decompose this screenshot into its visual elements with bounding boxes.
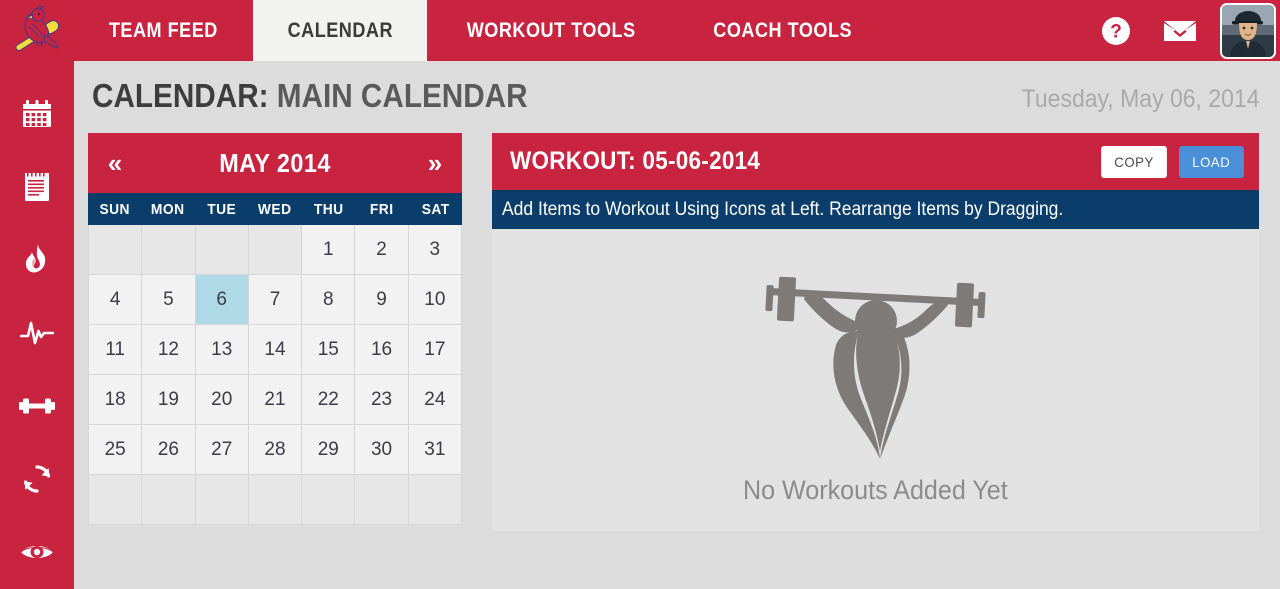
calendar-day-cell[interactable]: 15	[302, 325, 355, 375]
tab-wrap-workout-tools: WORKOUT TOOLS	[427, 0, 675, 61]
calendar-day-cell[interactable]: 8	[302, 275, 355, 325]
calendar-day-cell[interactable]: 26	[142, 425, 195, 475]
calendar-empty-cell	[249, 475, 302, 525]
eye-icon	[20, 542, 54, 562]
empty-state-message: No Workouts Added Yet	[743, 475, 1008, 506]
calendar-day-cell[interactable]: 1	[302, 225, 355, 275]
calendar-icon	[22, 100, 52, 128]
dumbbell-icon	[19, 396, 55, 416]
calendar-day-cell[interactable]: 30	[355, 425, 408, 475]
calendar-empty-cell	[196, 475, 249, 525]
calendar-day-cell[interactable]: 31	[409, 425, 462, 475]
calendar-empty-cell	[249, 225, 302, 275]
calendar-day-cell[interactable]: 20	[196, 375, 249, 425]
main-tabs: TEAM FEED CALENDAR WORKOUT TOOLS COACH T…	[74, 0, 889, 61]
calendar-empty-cell	[302, 475, 355, 525]
calendar-day-cell[interactable]: 25	[89, 425, 142, 475]
calendar-day-cell[interactable]: 28	[249, 425, 302, 475]
calendar-day-cell[interactable]: 21	[249, 375, 302, 425]
weightlifter-barbell-icon	[760, 261, 992, 473]
calendar-day-cell[interactable]: 29	[302, 425, 355, 475]
calendar-day-cell[interactable]: 12	[142, 325, 195, 375]
calendar-panel: « MAY 2014 » SUN MON TUE WED THU FRI SAT…	[88, 133, 462, 531]
calendar-day-cell[interactable]: 22	[302, 375, 355, 425]
calendar-empty-cell	[409, 475, 462, 525]
sidebar-item-performance[interactable]	[0, 296, 74, 369]
user-avatar-photo	[1222, 5, 1274, 57]
team-logo[interactable]	[0, 0, 74, 61]
calendar-month-title: MAY 2014	[219, 148, 331, 179]
main-content: CALENDAR: MAIN CALENDAR Tuesday, May 06,…	[74, 61, 1280, 589]
calendar-week-row: 123	[89, 225, 462, 275]
calendar-week-row: 45678910	[89, 275, 462, 325]
left-sidebar	[0, 61, 74, 589]
calendar-day-cell[interactable]: 9	[355, 275, 408, 325]
day-header-fri: FRI	[357, 193, 406, 225]
day-header-sat: SAT	[411, 193, 460, 225]
tab-wrap-calendar: CALENDAR	[253, 0, 428, 61]
workout-panel: WORKOUT: 05-06-2014 COPY LOAD Add Items …	[492, 133, 1259, 531]
refresh-cycle-icon	[22, 464, 52, 494]
tab-team-feed[interactable]: TEAM FEED	[87, 0, 241, 61]
calendar-day-cell[interactable]: 4	[89, 275, 142, 325]
heartbeat-pulse-icon	[20, 320, 54, 346]
calendar-day-cell[interactable]: 3	[409, 225, 462, 275]
calendar-day-cell[interactable]: 10	[409, 275, 462, 325]
sidebar-item-vision[interactable]	[0, 516, 74, 589]
avatar[interactable]	[1220, 3, 1276, 59]
notepad-icon	[23, 172, 51, 202]
calendar-day-cell[interactable]: 7	[249, 275, 302, 325]
day-header-thu: THU	[304, 193, 353, 225]
sidebar-item-lifts[interactable]	[0, 370, 74, 443]
tab-coach-tools[interactable]: COACH TOOLS	[691, 0, 875, 61]
workout-empty-state: No Workouts Added Yet	[492, 229, 1259, 531]
panels-row: « MAY 2014 » SUN MON TUE WED THU FRI SAT…	[74, 133, 1280, 531]
calendar-empty-cell	[196, 225, 249, 275]
calendar-week-row: 11121314151617	[89, 325, 462, 375]
calendar-day-cell[interactable]: 11	[89, 325, 142, 375]
flame-icon	[24, 244, 50, 276]
day-header-wed: WED	[250, 193, 299, 225]
topbar-spacer	[889, 0, 1084, 61]
calendar-empty-cell	[142, 475, 195, 525]
page-header: CALENDAR: MAIN CALENDAR Tuesday, May 06,…	[74, 61, 1280, 133]
tab-workout-tools[interactable]: WORKOUT TOOLS	[445, 0, 659, 61]
calendar-header: « MAY 2014 »	[88, 133, 462, 193]
top-navigation-bar: TEAM FEED CALENDAR WORKOUT TOOLS COACH T…	[0, 0, 1280, 61]
workout-header: WORKOUT: 05-06-2014 COPY LOAD	[492, 133, 1259, 190]
cardinal-bird-on-bat-logo	[8, 2, 66, 60]
copy-button[interactable]: COPY	[1101, 146, 1167, 178]
calendar-day-cell[interactable]: 24	[409, 375, 462, 425]
calendar-day-cell[interactable]: 16	[355, 325, 408, 375]
calendar-day-cell[interactable]: 19	[142, 375, 195, 425]
messages-button[interactable]	[1148, 0, 1212, 61]
calendar-day-cell[interactable]: 6	[196, 275, 249, 325]
page-title-name: MAIN CALENDAR	[277, 77, 528, 114]
calendar-day-cell[interactable]: 13	[196, 325, 249, 375]
workout-instructions-bar: Add Items to Workout Using Icons at Left…	[492, 190, 1259, 229]
calendar-day-cell[interactable]: 5	[142, 275, 195, 325]
calendar-day-cell[interactable]: 2	[355, 225, 408, 275]
calendar-week-row	[89, 475, 462, 525]
calendar-day-cell[interactable]: 14	[249, 325, 302, 375]
current-date: Tuesday, May 06, 2014	[1021, 85, 1259, 114]
page-title: CALENDAR: MAIN CALENDAR	[92, 77, 528, 115]
calendar-day-cell[interactable]: 27	[196, 425, 249, 475]
sidebar-item-recovery[interactable]	[0, 443, 74, 516]
calendar-week-row: 18192021222324	[89, 375, 462, 425]
sidebar-item-notes[interactable]	[0, 150, 74, 223]
day-header-sun: SUN	[90, 193, 139, 225]
help-button[interactable]: ?	[1084, 0, 1148, 61]
topbar-actions: ?	[1084, 0, 1280, 61]
calendar-grid: 1234567891011121314151617181920212223242…	[88, 225, 462, 525]
workout-instructions: Add Items to Workout Using Icons at Left…	[502, 199, 1063, 221]
calendar-next-month-button[interactable]: »	[420, 150, 450, 176]
calendar-empty-cell	[142, 225, 195, 275]
calendar-empty-cell	[355, 475, 408, 525]
day-header-tue: TUE	[197, 193, 246, 225]
tab-wrap-coach-tools: COACH TOOLS	[676, 0, 889, 61]
calendar-day-cell[interactable]: 18	[89, 375, 142, 425]
envelope-icon	[1163, 19, 1197, 43]
page-title-prefix: CALENDAR:	[92, 77, 269, 114]
calendar-week-row: 25262728293031	[89, 425, 462, 475]
sidebar-item-calendar[interactable]	[0, 77, 74, 150]
calendar-day-cell[interactable]: 17	[409, 325, 462, 375]
load-button[interactable]: LOAD	[1180, 146, 1244, 178]
calendar-prev-month-button[interactable]: «	[100, 150, 130, 176]
app-root: TEAM FEED CALENDAR WORKOUT TOOLS COACH T…	[0, 0, 1280, 589]
calendar-day-headers: SUN MON TUE WED THU FRI SAT	[88, 193, 462, 225]
calendar-empty-cell	[89, 225, 142, 275]
sidebar-item-conditioning[interactable]	[0, 223, 74, 296]
question-mark-circle-icon: ?	[1101, 16, 1131, 46]
day-header-mon: MON	[144, 193, 193, 225]
calendar-day-cell[interactable]: 23	[355, 375, 408, 425]
calendar-empty-cell	[89, 475, 142, 525]
tab-calendar[interactable]: CALENDAR	[265, 0, 415, 61]
workout-title: WORKOUT: 05-06-2014	[510, 147, 760, 176]
svg-text:?: ?	[1110, 21, 1122, 42]
workout-actions: COPY LOAD	[1099, 146, 1246, 178]
tab-wrap-team-feed: TEAM FEED	[74, 0, 253, 61]
